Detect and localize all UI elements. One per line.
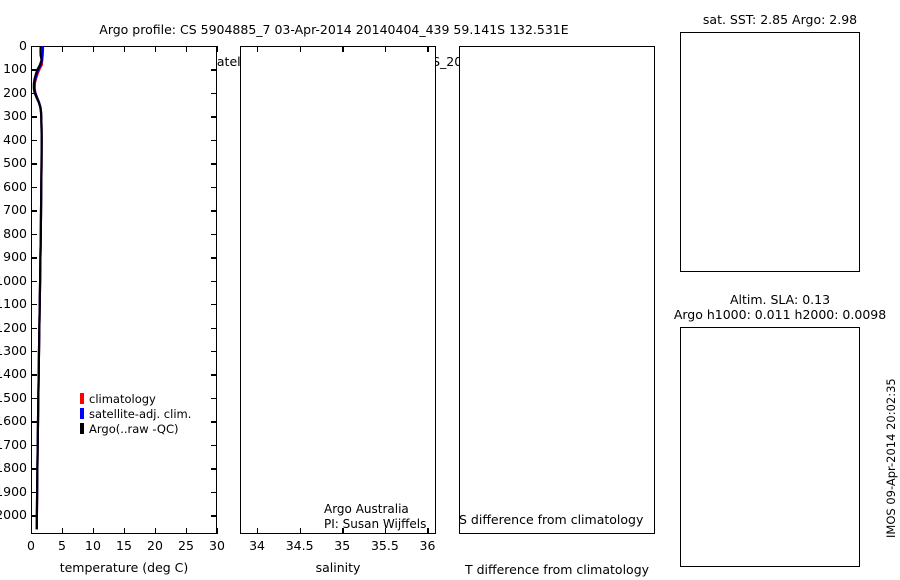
difference-profile-panel[interactable]	[459, 46, 655, 534]
legend-label-1: satellite-adj. clim.	[89, 407, 191, 421]
axis-tick-label: 36	[405, 538, 449, 553]
temperature-axis-label: temperature (deg C)	[31, 560, 217, 575]
depth-tick-label: 2000	[0, 507, 27, 522]
axis-tick	[427, 46, 428, 52]
axis-tick	[217, 46, 218, 52]
depth-tick-label: 1900	[0, 484, 27, 499]
depth-tick-label: 400	[0, 132, 27, 147]
depth-tick-label: 100	[0, 61, 27, 76]
depth-tick-label: 1800	[0, 460, 27, 475]
depth-tick-label: 1100	[0, 296, 27, 311]
depth-tick-label: 1000	[0, 273, 27, 288]
depth-tick-label: 1500	[0, 390, 27, 405]
axis-tick	[427, 528, 428, 534]
axis-tick	[257, 528, 258, 534]
depth-tick-label: 0	[0, 38, 27, 53]
axis-tick-label: 35.5	[363, 538, 407, 553]
axis-tick	[300, 528, 301, 534]
depth-tick-label: 800	[0, 226, 27, 241]
axis-tick	[342, 46, 343, 52]
axis-tick-label: 34.5	[278, 538, 322, 553]
axis-tick-label: 35	[320, 538, 364, 553]
axis-tick	[300, 46, 301, 52]
sla-map-panel[interactable]	[680, 327, 860, 567]
depth-tick-label: 1300	[0, 343, 27, 358]
sst-map-title: sat. SST: 2.85 Argo: 2.98	[660, 12, 900, 27]
depth-tick-label: 700	[0, 202, 27, 217]
legend-swatch-0	[80, 393, 84, 404]
depth-tick-label: 1600	[0, 413, 27, 428]
salinity-profile-panel[interactable]	[240, 46, 436, 534]
axis-tick-label: 34	[235, 538, 279, 553]
salinity-axis-label: salinity	[240, 560, 436, 575]
axis-tick	[257, 46, 258, 52]
depth-tick-label: 1400	[0, 366, 27, 381]
legend-label-2: Argo(..raw -QC)	[89, 422, 179, 436]
legend-swatch-1	[80, 408, 84, 419]
sst-map-panel[interactable]	[680, 32, 860, 272]
legend-swatch-2	[80, 423, 84, 434]
depth-tick-label: 200	[0, 85, 27, 100]
title-line-1: Argo profile: CS 5904885_7 03-Apr-2014 2…	[99, 22, 568, 37]
depth-tick-label: 300	[0, 108, 27, 123]
axis-tick	[385, 46, 386, 52]
depth-tick-label: 900	[0, 249, 27, 264]
t-difference-axis-label: T difference from climatology	[459, 562, 655, 577]
axis-tick	[217, 528, 218, 534]
s-difference-axis-label: S difference from climatology	[459, 512, 655, 527]
axis-tick-label: 30	[195, 538, 239, 553]
depth-tick-label: 600	[0, 179, 27, 194]
timestamp-label: IMOS 09-Apr-2014 20:02:35	[884, 378, 898, 538]
depth-tick-label: 1200	[0, 320, 27, 335]
sla-map-title: Altim. SLA: 0.13 Argo h1000: 0.011 h2000…	[660, 292, 900, 322]
attribution-note: Argo Australia PI: Susan Wijffels	[324, 502, 426, 532]
temperature-profile-curves	[31, 46, 217, 534]
depth-tick-label: 1700	[0, 437, 27, 452]
legend-label-0: climatology	[89, 392, 156, 406]
series-argo-raw-qc-	[34, 46, 42, 529]
depth-tick-label: 500	[0, 155, 27, 170]
